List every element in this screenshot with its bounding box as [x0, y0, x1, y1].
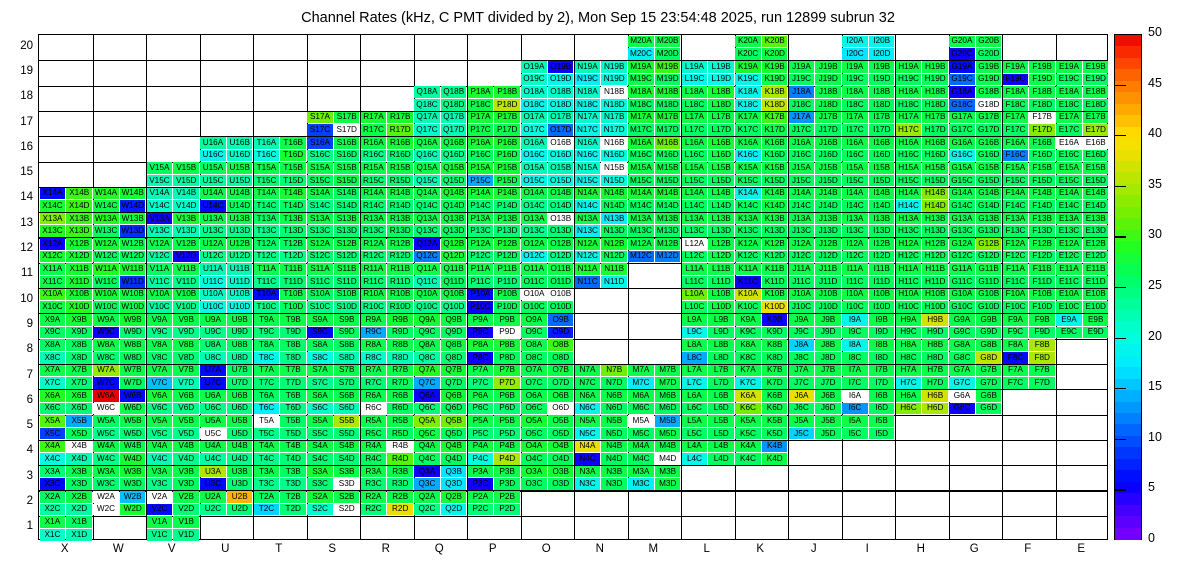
heatmap-cell: V15C	[147, 175, 173, 187]
heatmap-cell: P14D	[494, 200, 520, 212]
heatmap-cell: P15B	[494, 162, 520, 174]
heatmap-cell: E15A	[1056, 162, 1082, 174]
heatmap-cell: I10C	[842, 301, 868, 313]
heatmap-cell: F9C	[1003, 327, 1029, 339]
heatmap-cell: K15A	[735, 162, 761, 174]
heatmap-cell: Q6C	[414, 403, 440, 415]
heatmap-cell: W13A	[93, 213, 119, 225]
heatmap-cell: L12B	[708, 238, 734, 250]
heatmap-cell: K9D	[762, 327, 788, 339]
heatmap-cell: P3B	[494, 466, 520, 478]
x-axis-tick-label: Q	[413, 543, 467, 555]
heatmap-cell: S12C	[307, 251, 333, 263]
heatmap-cell: I6C	[842, 403, 868, 415]
heatmap-cell: N14C	[575, 200, 601, 212]
heatmap-cell: E19B	[1083, 61, 1109, 73]
heatmap-cell: T8D	[280, 352, 306, 364]
heatmap-cell: Q7C	[414, 377, 440, 389]
heatmap-cell: K9A	[735, 314, 761, 326]
heatmap-cell: O7C	[521, 377, 547, 389]
x-axis-tick-label: O	[520, 543, 574, 555]
heatmap-cell: K13D	[762, 225, 788, 237]
heatmap-cell: J13C	[789, 225, 815, 237]
heatmap-cell: R12D	[387, 251, 413, 263]
heatmap-cell: G17D	[976, 124, 1002, 136]
heatmap-cell: V13C	[147, 225, 173, 237]
heatmap-cell: P4D	[494, 453, 520, 465]
heatmap-cell: R11A	[361, 263, 387, 275]
heatmap-cell: P13C	[468, 225, 494, 237]
heatmap-cell: G16D	[976, 150, 1002, 162]
heatmap-cell: T11D	[280, 276, 306, 288]
heatmap-cell: M4A	[628, 441, 654, 453]
heatmap-cell: L10D	[708, 301, 734, 313]
heatmap-cell: W9B	[120, 314, 146, 326]
heatmap-cell: G8D	[976, 352, 1002, 364]
colorbar-tick-mark	[1114, 439, 1126, 440]
heatmap-cell: K11B	[762, 263, 788, 275]
heatmap-cell: N3A	[575, 466, 601, 478]
heatmap-cell: O12C	[521, 251, 547, 263]
heatmap-cell: K6C	[735, 403, 761, 415]
heatmap-cell: E10A	[1056, 289, 1082, 301]
heatmap-cell: V4C	[147, 453, 173, 465]
heatmap-cell: X12A	[40, 238, 66, 250]
heatmap-cell: W12D	[120, 251, 146, 263]
heatmap-cell: U15B	[227, 162, 253, 174]
heatmap-cell: U15D	[227, 175, 253, 187]
heatmap-cell: G14A	[949, 188, 975, 200]
heatmap-cell: M15C	[628, 175, 654, 187]
heatmap-cell: R7B	[387, 365, 413, 377]
heatmap-cell: Q8B	[441, 339, 467, 351]
heatmap-cell: X7C	[40, 377, 66, 389]
heatmap-cell: X6B	[66, 390, 92, 402]
heatmap-cell: Q4D	[441, 453, 467, 465]
heatmap-cell: V14D	[173, 200, 199, 212]
heatmap-cell: W11A	[93, 263, 119, 275]
heatmap-cell: T6D	[280, 403, 306, 415]
colorbar-tick-label: 40	[1148, 126, 1162, 140]
page-title: Channel Rates (kHz, C PMT divided by 2),…	[0, 10, 1196, 26]
heatmap-cell: E19D	[1083, 74, 1109, 86]
heatmap-cell: G19D	[976, 74, 1002, 86]
heatmap-cell: M3A	[628, 466, 654, 478]
heatmap-cell: X3B	[66, 466, 92, 478]
heatmap-cell: S9A	[307, 314, 333, 326]
heatmap-cell: F12C	[1003, 251, 1029, 263]
heatmap-cell: P6A	[468, 390, 494, 402]
heatmap-cell: P6C	[468, 403, 494, 415]
heatmap-cell: G13C	[949, 225, 975, 237]
heatmap-cell: O14B	[548, 188, 574, 200]
heatmap-cell: L10C	[682, 301, 708, 313]
heatmap-cell: M3D	[655, 478, 681, 490]
heatmap-cell: S6D	[334, 403, 360, 415]
heatmap-cell: Q17D	[441, 124, 467, 136]
heatmap-cell: L16A	[682, 137, 708, 149]
heatmap-cell: S12B	[334, 238, 360, 250]
heatmap-cell: R17A	[361, 112, 387, 124]
heatmap-cell: J15C	[789, 175, 815, 187]
heatmap-cell: U6B	[227, 390, 253, 402]
heatmap-cell: R8A	[361, 339, 387, 351]
heatmap-cell: W10D	[120, 301, 146, 313]
heatmap-cell: Q16B	[441, 137, 467, 149]
heatmap-cell: H11A	[896, 263, 922, 275]
heatmap-cell: P2B	[494, 491, 520, 503]
heatmap-cell: V1D	[173, 529, 199, 541]
heatmap-cell: Q11A	[414, 263, 440, 275]
heatmap-cell: X9A	[40, 314, 66, 326]
heatmap-cell: J17C	[789, 124, 815, 136]
heatmap-cell: K16A	[735, 137, 761, 149]
heatmap-cell: R11B	[387, 263, 413, 275]
heatmap-cell: T2A	[254, 491, 280, 503]
heatmap-cell: E14B	[1083, 188, 1109, 200]
heatmap-cell: G18C	[949, 99, 975, 111]
heatmap-cell: O8B	[548, 339, 574, 351]
heatmap-cell: W9C	[93, 327, 119, 339]
heatmap-cell: O17B	[548, 112, 574, 124]
heatmap-cell: W14D	[120, 200, 146, 212]
heatmap-cell: I16B	[869, 137, 895, 149]
heatmap-cell: W13C	[93, 225, 119, 237]
heatmap-cell: G11D	[976, 276, 1002, 288]
heatmap-cell: J7D	[815, 377, 841, 389]
heatmap-cell: H9D	[922, 327, 948, 339]
heatmap-cell: R9C	[361, 327, 387, 339]
colorbar-tick-label: 10	[1148, 430, 1162, 444]
heatmap-cell: N5B	[601, 415, 627, 427]
heatmap-cell: W13B	[120, 213, 146, 225]
heatmap-cell: X8D	[66, 352, 92, 364]
heatmap-cell: S9C	[307, 327, 333, 339]
heatmap-cell: L19B	[708, 61, 734, 73]
heatmap-cell: G12C	[949, 251, 975, 263]
heatmap-cell: O6C	[521, 403, 547, 415]
heatmap-cell: V8D	[173, 352, 199, 364]
heatmap-cell: H19B	[922, 61, 948, 73]
heatmap-cell: U8B	[227, 339, 253, 351]
heatmap-cell: H10A	[896, 289, 922, 301]
heatmap-cell: N18C	[575, 99, 601, 111]
heatmap-cell: J8C	[789, 352, 815, 364]
heatmap-cell: I5D	[869, 428, 895, 440]
heatmap-cell: W8B	[120, 339, 146, 351]
heatmap-cell: J5D	[815, 428, 841, 440]
heatmap-cell: H17D	[922, 124, 948, 136]
y-axis-tick-label: 10	[3, 293, 33, 305]
heatmap-cell: S15D	[334, 175, 360, 187]
heatmap-cell: L16B	[708, 137, 734, 149]
heatmap-cell: L17A	[682, 112, 708, 124]
heatmap-cell: O6B	[548, 390, 574, 402]
heatmap-cell: W3A	[93, 466, 119, 478]
heatmap-cell: S3A	[307, 466, 333, 478]
heatmap-cell: V14B	[173, 188, 199, 200]
heatmap-cell: U5C	[200, 428, 226, 440]
heatmap-cell: S14C	[307, 200, 333, 212]
heatmap-cell: W3C	[93, 478, 119, 490]
heatmap-cell: U12B	[227, 238, 253, 250]
heatmap-cell: I12A	[842, 238, 868, 250]
heatmap-cell: S6B	[334, 390, 360, 402]
heatmap-cell: R7A	[361, 365, 387, 377]
heatmap-cell: P15C	[468, 175, 494, 187]
heatmap-cell: X14B	[66, 188, 92, 200]
heatmap-cell: N18A	[575, 86, 601, 98]
heatmap-cell: T8B	[280, 339, 306, 351]
heatmap-cell: Q2C	[414, 504, 440, 516]
heatmap-cell: R3D	[387, 478, 413, 490]
heatmap-cell: V4D	[173, 453, 199, 465]
heatmap-cell: R4B	[387, 441, 413, 453]
heatmap-cell: W10C	[93, 301, 119, 313]
heatmap-cell: K13B	[762, 213, 788, 225]
heatmap-cell: N18B	[601, 86, 627, 98]
heatmap-cell: L13C	[682, 225, 708, 237]
heatmap-cell: Q7B	[441, 365, 467, 377]
heatmap-cell: P10B	[494, 289, 520, 301]
heatmap-cell: U13A	[200, 213, 226, 225]
heatmap-cell: I10D	[869, 301, 895, 313]
heatmap-cell: L16D	[708, 150, 734, 162]
heatmap-cell: W6B	[120, 390, 146, 402]
heatmap-cell: K9B	[762, 314, 788, 326]
x-axis-tick-label: L	[680, 543, 734, 555]
y-axis-tick-label: 1	[3, 520, 33, 532]
heatmap-cell: L7B	[708, 365, 734, 377]
heatmap-cell: F18D	[1029, 99, 1055, 111]
heatmap-cell: T5D	[280, 428, 306, 440]
heatmap-cell: O4C	[521, 453, 547, 465]
heatmap-cell: O12A	[521, 238, 547, 250]
heatmap-cell: H11D	[922, 276, 948, 288]
heatmap-cell: P12B	[494, 238, 520, 250]
heatmap-cell: E17D	[1083, 124, 1109, 136]
heatmap-cell: N11A	[575, 263, 601, 275]
heatmap-cell: W7D	[120, 377, 146, 389]
heatmap-cell: R9D	[387, 327, 413, 339]
heatmap-cell: I6A	[842, 390, 868, 402]
heatmap-cell: N15D	[601, 175, 627, 187]
heatmap-cell: R9B	[387, 314, 413, 326]
heatmap-cell: Q10B	[441, 289, 467, 301]
y-axis-tick-label: 16	[3, 141, 33, 153]
heatmap-cell: V5D	[173, 428, 199, 440]
heatmap-cell: S7D	[334, 377, 360, 389]
heatmap-cell: F13C	[1003, 225, 1029, 237]
heatmap-cell: P4C	[468, 453, 494, 465]
heatmap-cell: W5D	[120, 428, 146, 440]
heatmap-cell: W12A	[93, 238, 119, 250]
heatmap-cell: K7D	[762, 377, 788, 389]
heatmap-cell: H8C	[896, 352, 922, 364]
heatmap-cell: J8B	[815, 339, 841, 351]
heatmap-cell: N16D	[601, 150, 627, 162]
heatmap-cell: M14C	[628, 200, 654, 212]
heatmap-cell: P12D	[494, 251, 520, 263]
heatmap-cell: U15A	[200, 162, 226, 174]
heatmap-cell: L18A	[682, 86, 708, 98]
heatmap-cell: W4C	[93, 453, 119, 465]
heatmap-cell: R14D	[387, 200, 413, 212]
heatmap-cell: S15A	[307, 162, 333, 174]
heatmap-cell: T7A	[254, 365, 280, 377]
heatmap-cell: K14A	[735, 188, 761, 200]
heatmap-cell: F12D	[1029, 251, 1055, 263]
heatmap-cell: U11A	[200, 263, 226, 275]
heatmap-cell: Q3D	[441, 478, 467, 490]
heatmap-cell: P8C	[468, 352, 494, 364]
heatmap-cell: P15D	[494, 175, 520, 187]
heatmap-cell: V10A	[147, 289, 173, 301]
heatmap-cell: R6C	[361, 403, 387, 415]
heatmap-cell: G20A	[949, 36, 975, 48]
heatmap-cell: P7D	[494, 377, 520, 389]
heatmap-cell: H6B	[922, 390, 948, 402]
heatmap-cell: V8B	[173, 339, 199, 351]
heatmap-cell: U3A	[200, 466, 226, 478]
heatmap-cell: G13B	[976, 213, 1002, 225]
heatmap-cell: L13B	[708, 213, 734, 225]
heatmap-cell: H15D	[922, 175, 948, 187]
heatmap-cell: H16C	[896, 150, 922, 162]
heatmap-cell: Q18A	[414, 86, 440, 98]
heatmap-cell: O9B	[548, 314, 574, 326]
heatmap-cell: P8B	[494, 339, 520, 351]
heatmap-cell: S5D	[334, 428, 360, 440]
heatmap-cell: H7D	[922, 377, 948, 389]
heatmap-cell: U16B	[227, 137, 253, 149]
colorbar-tick-label: 20	[1148, 329, 1162, 343]
heatmap-cell: T6B	[280, 390, 306, 402]
heatmap-cell: L14C	[682, 200, 708, 212]
heatmap-cell: T6C	[254, 403, 280, 415]
heatmap-cell: Q13D	[441, 225, 467, 237]
heatmap-cell: N13D	[601, 225, 627, 237]
heatmap-cell: O7A	[521, 365, 547, 377]
heatmap-cell: K6D	[762, 403, 788, 415]
heatmap-cell: Q4C	[414, 453, 440, 465]
colorbar-tick-mark	[1114, 186, 1126, 187]
heatmap-cell: F11A	[1003, 263, 1029, 275]
heatmap-cell: E15C	[1056, 175, 1082, 187]
heatmap-cell: F11C	[1003, 276, 1029, 288]
heatmap-cell: R11D	[387, 276, 413, 288]
heatmap-cell: N12D	[601, 251, 627, 263]
heatmap-cell: T9B	[280, 314, 306, 326]
heatmap-cell: W11C	[93, 276, 119, 288]
heatmap-cell: G8A	[949, 339, 975, 351]
heatmap-cell: T5C	[254, 428, 280, 440]
heatmap-cell: S12D	[334, 251, 360, 263]
heatmap-cell: V5B	[173, 415, 199, 427]
heatmap-cell: I10A	[842, 289, 868, 301]
heatmap-cell: R8C	[361, 352, 387, 364]
heatmap-cell: V12C	[147, 251, 173, 263]
heatmap-cell: E13B	[1083, 213, 1109, 225]
heatmap-cell: H7A	[896, 365, 922, 377]
heatmap-cell: L7C	[682, 377, 708, 389]
heatmap-cell: U5D	[227, 428, 253, 440]
heatmap-cell: R16A	[361, 137, 387, 149]
heatmap-cell: N7D	[601, 377, 627, 389]
heatmap-cell: I18C	[842, 99, 868, 111]
heatmap-cell: H19C	[896, 74, 922, 86]
heatmap-cell: X12D	[66, 251, 92, 263]
heatmap-cell: W5A	[93, 415, 119, 427]
heatmap-cell: G19A	[949, 61, 975, 73]
heatmap-cell: P17C	[468, 124, 494, 136]
heatmap-cell: P16D	[494, 150, 520, 162]
heatmap-cell: G11C	[949, 276, 975, 288]
heatmap-cell: U7C	[200, 377, 226, 389]
heatmap-cell: U16D	[227, 150, 253, 162]
heatmap-cell: X5B	[66, 415, 92, 427]
heatmap-cell: F19A	[1003, 61, 1029, 73]
heatmap-cell: H17B	[922, 112, 948, 124]
heatmap-cell: S17D	[334, 124, 360, 136]
heatmap-cell: K5B	[762, 415, 788, 427]
heatmap-cell: R17C	[361, 124, 387, 136]
heatmap-cell: L7D	[708, 377, 734, 389]
heatmap-cell: U9C	[200, 327, 226, 339]
heatmap-cell: F10A	[1003, 289, 1029, 301]
heatmap-cell: N19A	[575, 61, 601, 73]
heatmap-cell: M12A	[628, 238, 654, 250]
heatmap-cell: L13D	[708, 225, 734, 237]
heatmap-cell: L14A	[682, 188, 708, 200]
heatmap-cell: E18D	[1083, 99, 1109, 111]
heatmap-cell: W12C	[93, 251, 119, 263]
heatmap-cell: V3C	[147, 478, 173, 490]
heatmap-cell: O13C	[521, 225, 547, 237]
heatmap-cell: M7B	[655, 365, 681, 377]
heatmap-cell: N13C	[575, 225, 601, 237]
heatmap-cell: R10C	[361, 301, 387, 313]
heatmap-cell: U8A	[200, 339, 226, 351]
heatmap-cell: K14B	[762, 188, 788, 200]
heatmap-cell: R5C	[361, 428, 387, 440]
heatmap-cell: F16A	[1003, 137, 1029, 149]
heatmap-cell: O17D	[548, 124, 574, 136]
heatmap-cell: P18B	[494, 86, 520, 98]
heatmap-cell: R15B	[387, 162, 413, 174]
heatmap-cell: X9D	[66, 327, 92, 339]
heatmap-cell: Q2D	[441, 504, 467, 516]
x-axis-tick-label: U	[199, 543, 253, 555]
heatmap-cell: P17B	[494, 112, 520, 124]
heatmap-cell: T3C	[254, 478, 280, 490]
heatmap-cell: S16A	[307, 137, 333, 149]
heatmap-cell: T7B	[280, 365, 306, 377]
heatmap-cell: V2C	[147, 504, 173, 516]
heatmap-cell: O5B	[548, 415, 574, 427]
heatmap-cell: W4B	[120, 441, 146, 453]
heatmap-cell: M16D	[655, 150, 681, 162]
heatmap-cell: H17A	[896, 112, 922, 124]
heatmap-cell: L12D	[708, 251, 734, 263]
heatmap-cell: W10B	[120, 289, 146, 301]
heatmap-cell: T9C	[254, 327, 280, 339]
heatmap-cell: J10C	[789, 301, 815, 313]
heatmap-cell: S13D	[334, 225, 360, 237]
heatmap-cell: E11C	[1056, 276, 1082, 288]
heatmap-cell: H18B	[922, 86, 948, 98]
heatmap-cell: S10D	[334, 301, 360, 313]
